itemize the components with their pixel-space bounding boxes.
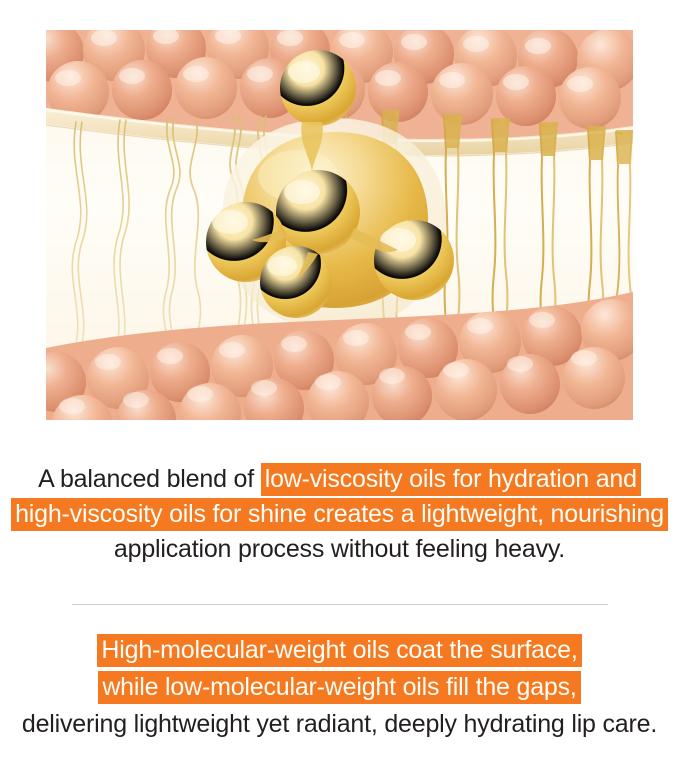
oil-sphere-center [276,170,360,254]
skin-cross-section-illustration [46,30,633,420]
p1-line1-highlight: low-viscosity oils for hydration and [261,463,641,496]
illustration-canvas [46,30,633,420]
p1-line3-plain: application process without feeling heav… [114,535,565,563]
p2-line1-highlight: High-molecular-weight oils coat the surf… [97,634,581,667]
paragraph-one-line-1: A balanced blend of low-viscosity oils f… [0,462,679,497]
paragraph-one: A balanced blend of low-viscosity oils f… [0,462,679,567]
section-divider [72,604,608,605]
paragraph-two-line-3: delivering lightweight yet radiant, deep… [0,706,679,743]
oil-sphere-top [280,50,356,126]
p1-line1-plain: A balanced blend of [38,465,261,493]
p2-line3-plain: delivering lightweight yet radiant, deep… [22,710,657,738]
paragraph-two-line-1: High-molecular-weight oils coat the surf… [0,632,679,669]
paragraph-two-line-2: while low-molecular-weight oils fill the… [0,669,679,706]
paragraph-two: High-molecular-weight oils coat the surf… [0,632,679,743]
p2-line2-highlight: while low-molecular-weight oils fill the… [98,671,580,704]
p1-line2-highlight: high-viscosity oils for shine creates a … [11,498,668,531]
paragraph-one-line-2: high-viscosity oils for shine creates a … [0,497,679,532]
paragraph-one-line-3: application process without feeling heav… [0,532,679,567]
oil-sphere-bottom [260,246,332,318]
